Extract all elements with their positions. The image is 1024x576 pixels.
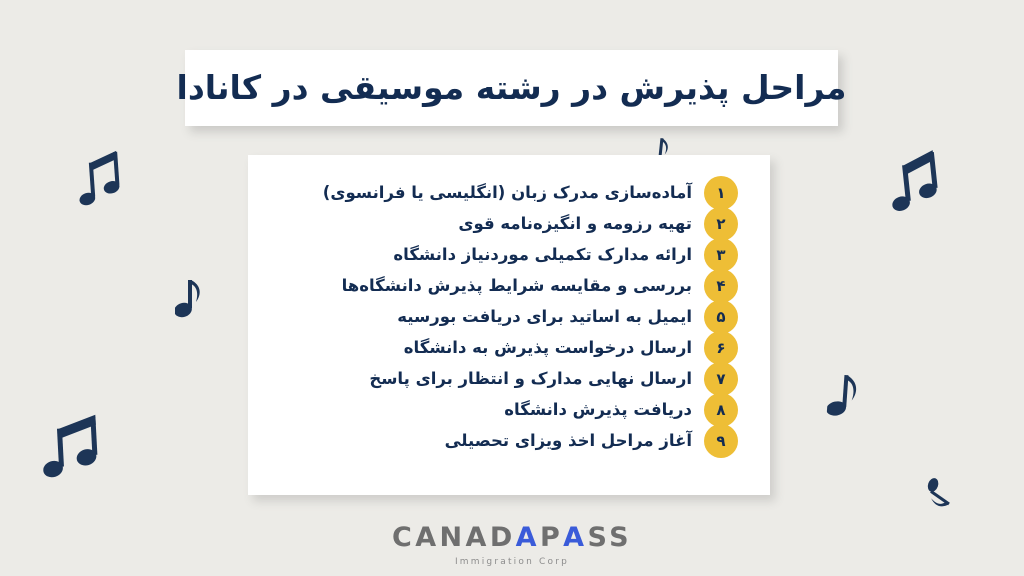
- step-number-badge: ۴: [704, 269, 738, 303]
- step-number-badge: ۳: [704, 238, 738, 272]
- title-banner: مراحل پذیرش در رشته موسیقی در کانادا: [185, 50, 838, 126]
- beamed-eighth-notes-icon: [76, 146, 126, 211]
- step-label: ایمیل به اساتید برای دریافت بورسیه: [397, 307, 692, 327]
- brand-word-part1: CANAD: [392, 524, 516, 551]
- step-number-badge: ۶: [704, 331, 738, 365]
- step-label: آماده‌سازی مدرک زبان (انگلیسی یا فرانسوی…: [323, 183, 692, 203]
- brand-tagline: Immigration Corp: [455, 557, 569, 567]
- step-label: بررسی و مقایسه شرایط پذیرش دانشگاه‌ها: [342, 276, 692, 296]
- brand-word-part2: P: [540, 524, 563, 551]
- step-row: ۷ارسال نهایی مدارک و انتظار برای پاسخ: [276, 363, 738, 394]
- step-row: ۳ارائه مدارک تکمیلی موردنیاز دانشگاه: [276, 239, 738, 270]
- step-label: ارسال درخواست پذیرش به دانشگاه: [404, 338, 692, 358]
- eighth-note-icon: [175, 277, 203, 319]
- step-number-badge: ۵: [704, 300, 738, 334]
- step-row: ۶ارسال درخواست پذیرش به دانشگاه: [276, 332, 738, 363]
- brand-wordmark: CANADAPASS: [392, 524, 632, 551]
- page-title: مراحل پذیرش در رشته موسیقی در کانادا: [177, 69, 847, 107]
- step-number-badge: ۱: [704, 176, 738, 210]
- brand-accent-letter: A: [516, 524, 540, 551]
- eighth-note-icon: [826, 371, 861, 421]
- step-row: ۵ایمیل به اساتید برای دریافت بورسیه: [276, 301, 738, 332]
- brand-logo: CANADAPASS Immigration Corp: [0, 524, 1024, 567]
- step-number-badge: ۲: [704, 207, 738, 241]
- step-number-badge: ۸: [704, 393, 738, 427]
- steps-card: ۱آماده‌سازی مدرک زبان (انگلیسی یا فرانسو…: [248, 155, 770, 495]
- step-label: ارسال نهایی مدارک و انتظار برای پاسخ: [369, 369, 692, 389]
- step-row: ۹آغاز مراحل اخذ ویزای تحصیلی: [276, 425, 738, 456]
- step-row: ۴بررسی و مقایسه شرایط پذیرش دانشگاه‌ها: [276, 270, 738, 301]
- step-label: آغاز مراحل اخذ ویزای تحصیلی: [445, 431, 692, 451]
- step-number-badge: ۷: [704, 362, 738, 396]
- steps-list: ۱آماده‌سازی مدرک زبان (انگلیسی یا فرانسو…: [248, 155, 770, 456]
- brand-accent-letter-2: A: [563, 524, 587, 551]
- eighth-note-icon: [916, 475, 959, 516]
- beamed-eighth-notes-icon: [886, 145, 945, 220]
- step-label: ارائه مدارک تکمیلی موردنیاز دانشگاه: [393, 245, 692, 265]
- step-number-badge: ۹: [704, 424, 738, 458]
- step-label: دریافت پذیرش دانشگاه: [504, 400, 692, 420]
- step-row: ۲تهیه رزومه و انگیزه‌نامه قوی: [276, 208, 738, 239]
- step-label: تهیه رزومه و انگیزه‌نامه قوی: [458, 214, 692, 234]
- brand-word-part3: SS: [587, 524, 631, 551]
- step-row: ۸دریافت پذیرش دانشگاه: [276, 394, 738, 425]
- step-row: ۱آماده‌سازی مدرک زبان (انگلیسی یا فرانسو…: [276, 177, 738, 208]
- beamed-eighth-notes-icon: [40, 408, 106, 487]
